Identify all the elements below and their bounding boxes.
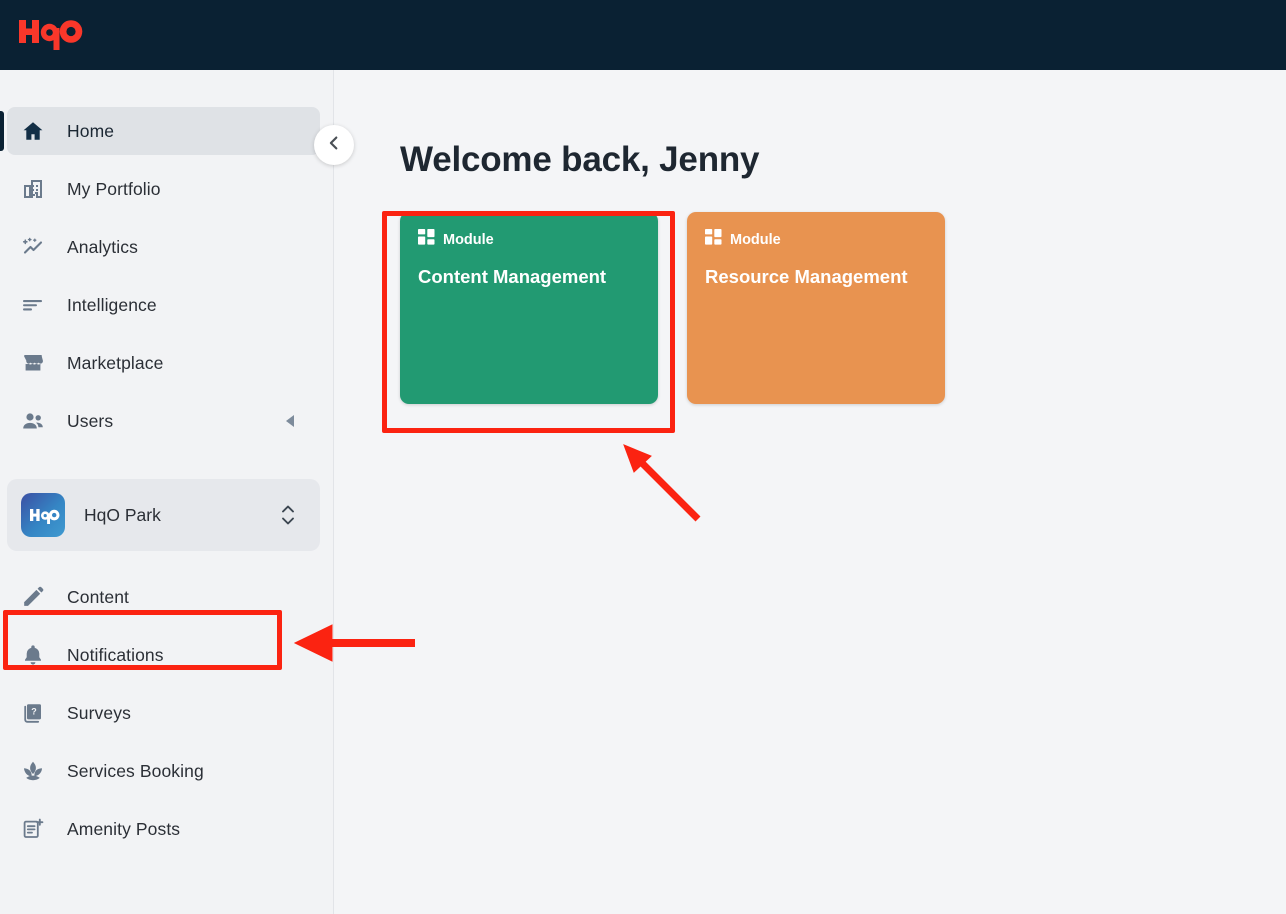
survey-book-icon: ?	[21, 701, 45, 725]
sidebar-item-marketplace[interactable]: Marketplace	[7, 339, 320, 387]
chevron-left-icon	[325, 134, 343, 157]
bell-icon	[21, 643, 45, 667]
sidebar-item-intelligence[interactable]: Intelligence	[7, 281, 320, 329]
sidebar-item-services-booking[interactable]: Services Booking	[7, 747, 320, 795]
home-icon	[21, 119, 45, 143]
grid-squares-icon	[705, 229, 722, 251]
card-title: Resource Management	[705, 265, 927, 288]
sidebar-item-amenity-posts[interactable]: Amenity Posts	[7, 805, 320, 853]
sidebar-item-my-portfolio[interactable]: My Portfolio	[7, 165, 320, 213]
sidebar-item-label: Intelligence	[67, 295, 157, 316]
document-plus-icon	[21, 817, 45, 841]
sidebar-item-label: Services Booking	[67, 761, 204, 782]
sidebar-item-surveys[interactable]: ? Surveys	[7, 689, 320, 737]
top-header-bar	[0, 0, 1286, 70]
sidebar-scroll-area[interactable]: Home My Portfolio	[0, 70, 334, 914]
sidebar-item-label: Home	[67, 121, 114, 142]
building-icon	[21, 177, 45, 201]
sidebar-item-label: Amenity Posts	[67, 819, 180, 840]
up-down-chevrons-icon[interactable]	[280, 502, 296, 528]
module-card-content-management[interactable]: Module Content Management	[400, 212, 658, 404]
card-kicker: Module	[418, 229, 640, 251]
users-icon	[21, 409, 45, 433]
module-card-row: Module Content Management Module	[400, 212, 1286, 404]
svg-text:?: ?	[31, 707, 37, 717]
sidebar-item-content[interactable]: Content	[7, 573, 320, 621]
sidebar-item-users[interactable]: Users	[7, 397, 320, 445]
analytics-icon	[21, 235, 45, 259]
storefront-icon	[21, 351, 45, 375]
sidebar-item-label: Content	[67, 587, 129, 608]
chevron-left-icon[interactable]	[286, 415, 294, 427]
sidebar-item-label: Analytics	[67, 237, 138, 258]
sidebar-item-home[interactable]: Home	[7, 107, 320, 155]
sidebar-item-label: Marketplace	[67, 353, 163, 374]
page-title: Welcome back, Jenny	[400, 140, 1286, 180]
property-avatar	[21, 493, 65, 537]
card-kicker: Module	[705, 229, 927, 251]
sidebar-item-label: Users	[67, 411, 113, 432]
hqo-logo[interactable]	[19, 16, 83, 54]
property-name-label: HqO Park	[84, 505, 161, 526]
card-title: Content Management	[418, 265, 640, 288]
pencil-icon	[21, 585, 45, 609]
lotus-icon	[21, 759, 45, 783]
app-root: Home My Portfolio	[0, 0, 1286, 914]
main-content: Welcome back, Jenny Module Content Manag…	[335, 70, 1286, 914]
module-card-resource-management[interactable]: Module Resource Management	[687, 212, 945, 404]
sidebar-item-label: Surveys	[67, 703, 131, 724]
sidebar-item-analytics[interactable]: Analytics	[7, 223, 320, 271]
grid-squares-icon	[418, 229, 435, 251]
intelligence-icon	[21, 293, 45, 317]
card-kicker-label: Module	[443, 232, 494, 248]
property-selector[interactable]: HqO Park	[7, 479, 320, 551]
sidebar-item-label: Notifications	[67, 645, 164, 666]
sidebar-item-label: My Portfolio	[67, 179, 161, 200]
sidebar-item-notifications[interactable]: Notifications	[7, 631, 320, 679]
sidebar-collapse-button[interactable]	[314, 125, 354, 165]
sidebar: Home My Portfolio	[0, 70, 334, 914]
card-kicker-label: Module	[730, 232, 781, 248]
